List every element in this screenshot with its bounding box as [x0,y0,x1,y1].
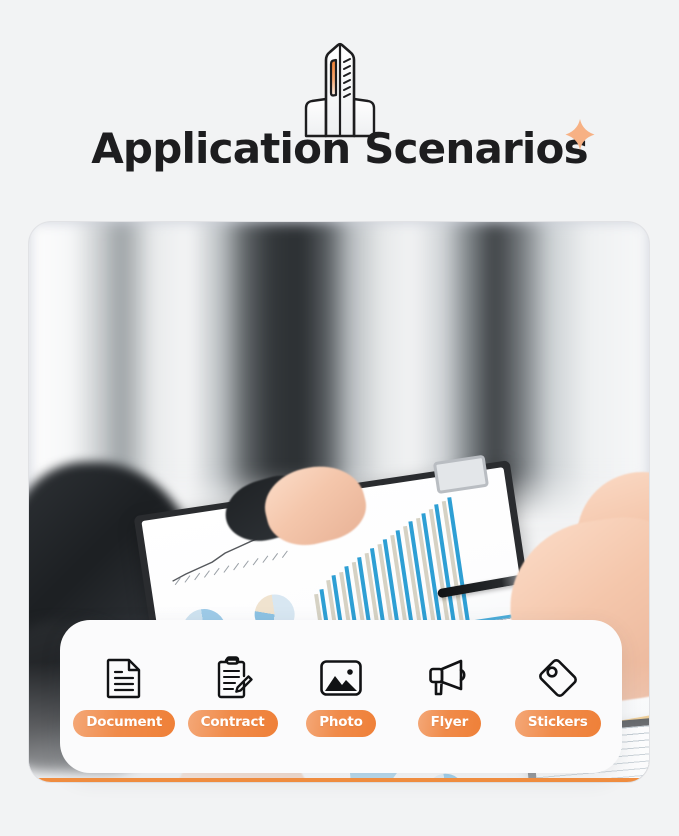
scenario-label-flyer: Flyer [418,710,481,737]
scenario-chip-list: Document Contract [60,620,622,773]
document-page-icon [106,656,142,700]
scenario-item-photo[interactable]: Photo [289,656,393,737]
scenario-item-flyer[interactable]: Flyer [397,656,501,737]
scenario-chip-card: Document Contract [60,620,622,773]
scenario-label-document: Document [73,710,175,737]
scenario-item-contract[interactable]: Contract [181,656,285,737]
scenario-label-photo: Photo [306,710,376,737]
price-tag-icon [537,656,579,700]
clipboard-pen-icon [213,656,253,700]
page-header: Application Scenarios [0,0,679,212]
image-picture-icon [319,656,363,700]
sparkle-star-icon [563,118,597,152]
scenario-item-document[interactable]: Document [72,656,176,737]
scenario-label-contract: Contract [188,710,278,737]
page-title: Application Scenarios [91,128,588,170]
scenario-label-stickers: Stickers [515,710,601,737]
megaphone-icon [427,656,471,700]
scenario-item-stickers[interactable]: Stickers [506,656,610,737]
